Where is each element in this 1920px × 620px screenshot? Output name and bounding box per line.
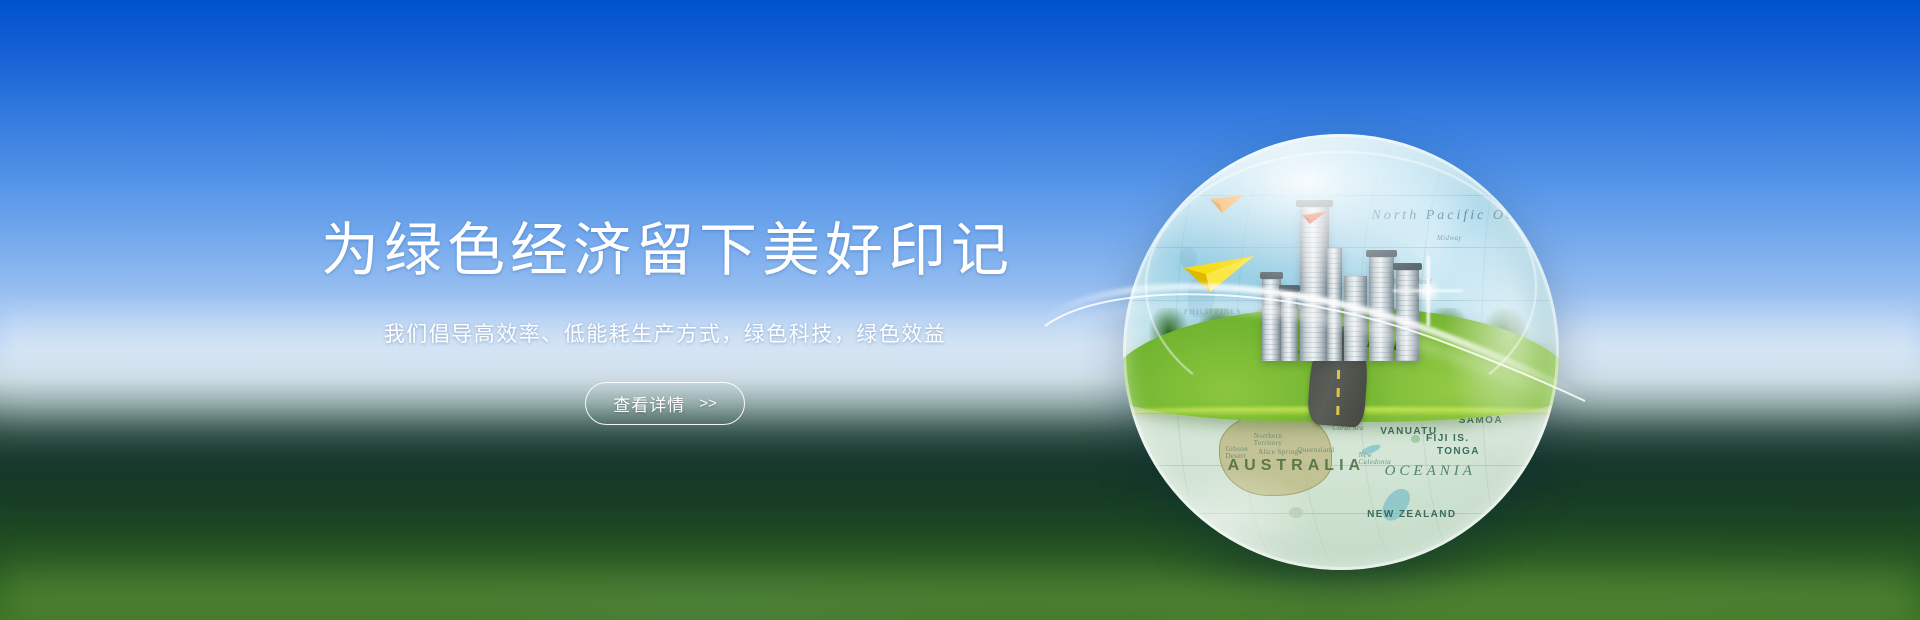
skyscraper xyxy=(1369,257,1394,361)
island-fiji xyxy=(1411,435,1421,443)
banner-subtitle: 我们倡导高效率、低能耗生产方式，绿色科技，绿色效益 xyxy=(384,318,947,348)
chevron-right-icon: >> xyxy=(699,395,717,412)
hero-banner: North Pacific Ocean INDONESIA PAPUA NEW … xyxy=(0,0,1920,620)
view-details-label: 查看详情 xyxy=(613,391,685,416)
skyscraper xyxy=(1344,276,1367,361)
page-title: 为绿色经济留下美好印记 xyxy=(316,222,1014,280)
skyscraper xyxy=(1396,270,1419,361)
banner-copy: 为绿色经济留下美好印记 我们倡导高效率、低能耗生产方式，绿色科技，绿色效益 查看… xyxy=(0,0,1330,620)
view-details-button[interactable]: 查看详情 >> xyxy=(585,382,745,425)
